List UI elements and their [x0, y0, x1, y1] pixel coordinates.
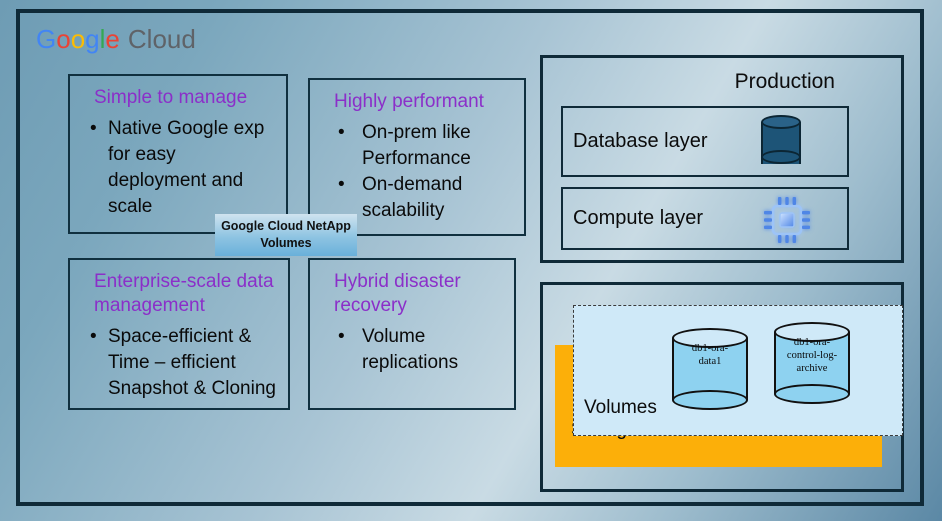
cylinder-bottom: [761, 150, 801, 164]
callout-line-1: Google Cloud NetApp: [221, 218, 351, 235]
feature-box-simple-to-manage: Simple to manage Native Google exp for e…: [68, 74, 288, 234]
feature-body: Volume replications: [320, 324, 504, 376]
feature-bullet-list: Space-efficient & Time – efficient Snaps…: [80, 324, 278, 402]
logo-letter-e: e: [105, 24, 119, 54]
storage-panel: Storage Pool Volumes db1-ora- data1 db1-…: [540, 282, 904, 492]
volume-name-label: db1-ora- data1: [672, 342, 748, 368]
logo-letter-o2: o: [71, 24, 85, 54]
production-title: Production: [735, 70, 835, 94]
feature-body: Space-efficient & Time – efficient Snaps…: [80, 324, 278, 402]
feature-bullet-list: On-prem like Performance On-demand scala…: [320, 120, 514, 224]
database-cylinder-icon: [761, 115, 801, 171]
feature-box-highly-performant: Highly performant On-prem like Performan…: [308, 78, 526, 236]
cpu-chip-icon: [759, 192, 815, 248]
feature-heading: Hybrid disaster recovery: [334, 270, 504, 318]
volume-cylinder: db1-ora- data1: [672, 328, 748, 410]
feature-bullet-item: Space-efficient & Time – efficient Snaps…: [108, 324, 278, 402]
feature-bullet-item: On-prem like Performance: [362, 120, 514, 172]
feature-bullet-list: Native Google exp for easy deployment an…: [80, 116, 276, 220]
feature-bullet-item: Volume replications: [362, 324, 504, 376]
volume-cylinder: db1-ora- control-log- archive: [774, 322, 850, 404]
feature-box-hybrid-disaster-recovery: Hybrid disaster recovery Volume replicat…: [308, 258, 516, 410]
feature-bullet-list: Volume replications: [320, 324, 504, 376]
volume-name-line: control-log-: [787, 350, 837, 361]
volumes-label: Volumes: [584, 397, 657, 419]
volume-name-label: db1-ora- control-log- archive: [774, 336, 850, 375]
compute-layer-label: Compute layer: [573, 207, 703, 230]
callout-line-2: Volumes: [260, 235, 311, 252]
feature-body: Native Google exp for easy deployment an…: [80, 116, 276, 220]
production-panel: Production Database layer Compute layer: [540, 55, 904, 263]
slide-canvas: GoogleCloud Simple to manage Native Goog…: [0, 0, 942, 521]
google-cloud-logo: GoogleCloud: [36, 24, 196, 55]
logo-letter-g1: G: [36, 24, 56, 54]
database-layer-label: Database layer: [573, 130, 708, 153]
cylinder-bottom: [672, 390, 748, 410]
volume-name-line: db1-ora-: [692, 343, 728, 354]
feature-heading: Enterprise-scale data management: [94, 270, 278, 318]
feature-body: On-prem like Performance On-demand scala…: [320, 120, 514, 224]
database-layer-box: Database layer: [561, 106, 849, 177]
logo-letter-o1: o: [56, 24, 70, 54]
feature-box-enterprise-scale-data-management: Enterprise-scale data management Space-e…: [68, 258, 290, 410]
logo-word-cloud: Cloud: [128, 24, 196, 54]
volumes-container: Volumes db1-ora- data1 db1-ora- control-…: [573, 305, 903, 436]
cylinder-bottom: [774, 384, 850, 404]
logo-letter-g2: g: [85, 24, 99, 54]
cylinder-top: [761, 115, 801, 129]
google-cloud-netapp-volumes-callout: Google Cloud NetApp Volumes: [215, 214, 357, 256]
volume-name-line: archive: [797, 363, 828, 374]
feature-heading: Highly performant: [334, 90, 514, 114]
feature-heading: Simple to manage: [94, 86, 276, 110]
feature-bullet-item: Native Google exp for easy deployment an…: [108, 116, 276, 220]
feature-bullet-item: On-demand scalability: [362, 172, 514, 224]
volume-name-line: data1: [699, 356, 722, 367]
compute-layer-box: Compute layer: [561, 187, 849, 250]
volume-name-line: db1-ora-: [794, 337, 830, 348]
